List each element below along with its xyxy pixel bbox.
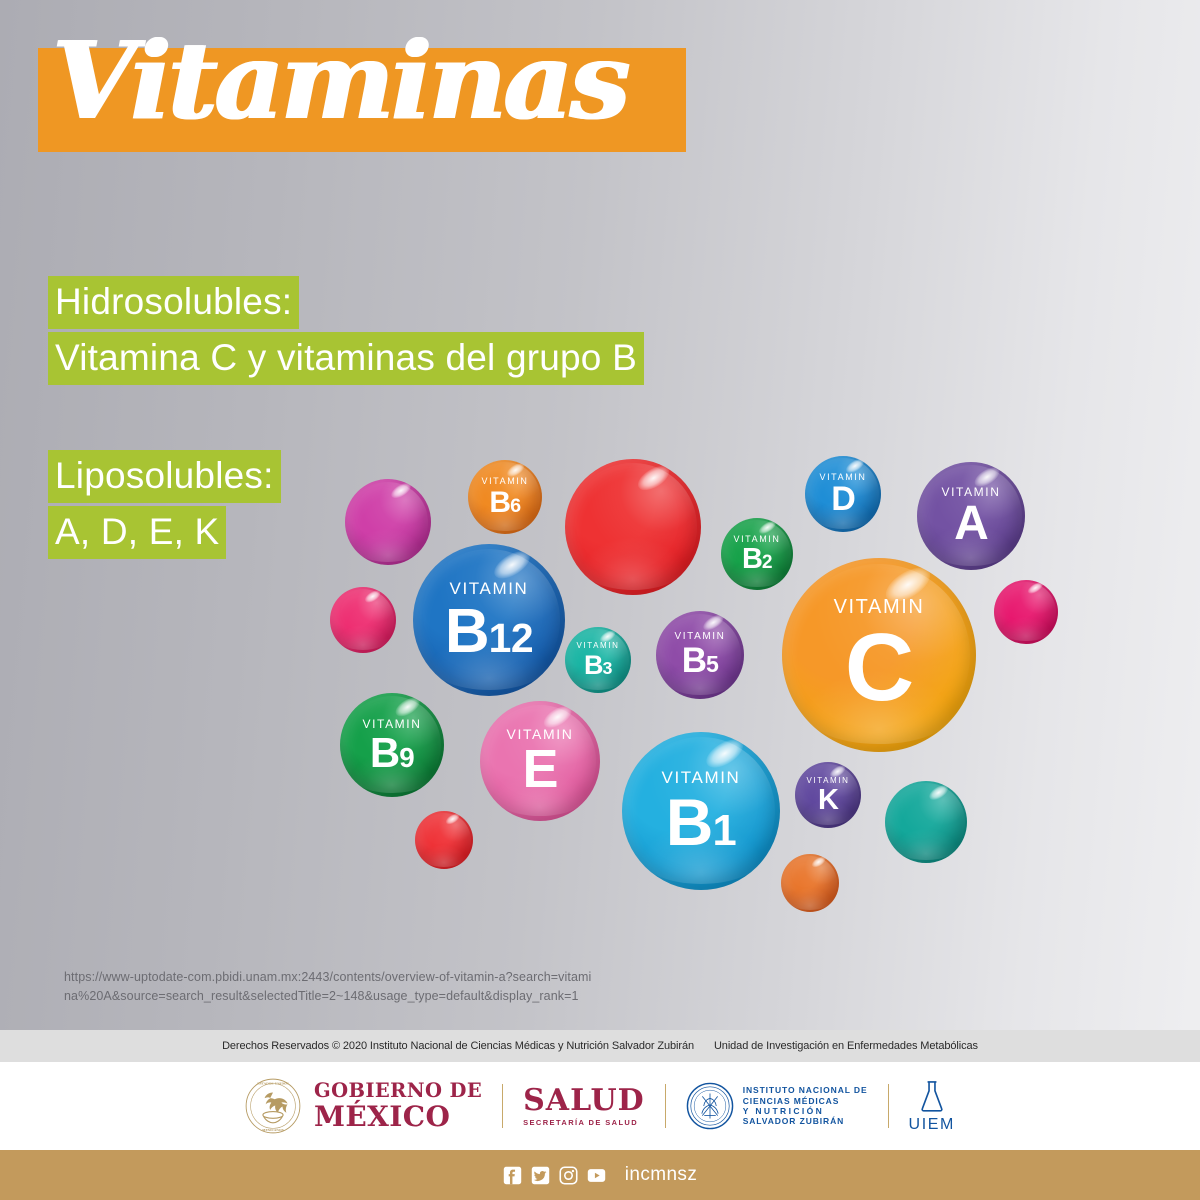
vitamin-sphere-d: VITAMIND bbox=[805, 456, 881, 532]
facebook-icon[interactable] bbox=[503, 1166, 522, 1185]
gloss-top-highlight bbox=[1026, 581, 1045, 597]
uiem-logo: UIEM bbox=[909, 1079, 955, 1134]
social-bar: incmnsz bbox=[0, 1150, 1200, 1200]
vitamin-sphere-b9: VITAMINB9 bbox=[340, 693, 444, 797]
decorative-sphere-4 bbox=[994, 580, 1058, 644]
incmnsz-line2: CIENCIAS MÉDICAS bbox=[743, 1096, 868, 1106]
gloss-top-highlight bbox=[926, 782, 950, 802]
vitamin-name-k: K bbox=[818, 787, 838, 814]
gloss-bottom-highlight bbox=[354, 529, 423, 562]
vitamin-sphere-b5: VITAMINB5 bbox=[656, 611, 744, 699]
vitamin-name-b12: B12 bbox=[445, 603, 533, 660]
vitamin-word-label: VITAMIN bbox=[662, 769, 741, 786]
gloss-rim-highlight bbox=[887, 783, 964, 860]
vitamin-sphere-k: VITAMINK bbox=[795, 762, 861, 828]
mexico-national-seal-icon: ESTADOS UNIDOS MEXICANOS bbox=[245, 1078, 301, 1134]
vitamin-word-label: VITAMIN bbox=[450, 580, 529, 597]
gobierno-de-mexico-logo: ESTADOS UNIDOS MEXICANOS GOBIERNO DE MÉX… bbox=[245, 1078, 482, 1134]
gloss-top-highlight bbox=[388, 480, 413, 501]
logo-divider-1 bbox=[502, 1084, 503, 1128]
vitamin-sphere-cluster: VITAMINB6VITAMINB12VITAMINB2VITAMINB3VIT… bbox=[0, 0, 1200, 1200]
decorative-sphere-7 bbox=[781, 854, 839, 912]
source-url-text: https://www-uptodate-com.pbidi.unam.mx:2… bbox=[64, 968, 594, 1006]
vitamin-sphere-b1: VITAMINB1 bbox=[622, 732, 780, 890]
gloss-bottom-highlight bbox=[893, 829, 959, 860]
twitter-icon[interactable] bbox=[531, 1166, 550, 1185]
gloss-top-highlight bbox=[363, 588, 382, 604]
salud-logo: SALUD SECRETARÍA DE SALUD bbox=[523, 1086, 645, 1127]
gobierno-wordmark: GOBIERNO DE MÉXICO bbox=[314, 1081, 482, 1131]
flask-icon bbox=[917, 1079, 947, 1113]
gloss-top-highlight bbox=[490, 546, 534, 584]
logo-divider-2 bbox=[665, 1084, 666, 1128]
decorative-sphere-3 bbox=[565, 459, 701, 595]
vitamin-sphere-b3: VITAMINB3 bbox=[565, 627, 631, 693]
gloss-bottom-highlight bbox=[337, 625, 390, 650]
vitamin-name-b1: B1 bbox=[666, 792, 736, 853]
copyright-bar: Derechos Reservados © 2020 Instituto Nac… bbox=[0, 1030, 1200, 1062]
vitamin-sphere-e: VITAMINE bbox=[480, 701, 600, 821]
copyright-right: Unidad de Investigación en Enfermedades … bbox=[714, 1040, 978, 1052]
instagram-icon[interactable] bbox=[559, 1166, 578, 1185]
decorative-sphere-5 bbox=[415, 811, 473, 869]
gloss-bottom-highlight bbox=[787, 888, 833, 910]
gloss-rim-highlight bbox=[783, 856, 838, 911]
vitamin-sphere-b12: VITAMINB12 bbox=[413, 544, 565, 696]
gloss-rim-highlight bbox=[332, 589, 394, 651]
salud-wordmark: SALUD bbox=[523, 1086, 645, 1116]
gloss-bottom-highlight bbox=[579, 538, 688, 590]
incmnsz-line3: Y NUTRICIÓN bbox=[743, 1106, 868, 1116]
vitamin-name-b2: B2 bbox=[742, 546, 772, 573]
vitamin-name-e: E bbox=[522, 745, 557, 795]
gloss-rim-highlight bbox=[417, 813, 472, 868]
vitamin-name-b3: B3 bbox=[584, 653, 612, 678]
vitamin-name-b9: B9 bbox=[370, 734, 414, 773]
vitamin-name-c: C bbox=[845, 624, 913, 712]
gloss-rim-highlight bbox=[348, 482, 429, 563]
copyright-left: Derechos Reservados © 2020 Instituto Nac… bbox=[222, 1040, 694, 1052]
gloss-rim-highlight bbox=[996, 582, 1056, 642]
incmnsz-line4: SALVADOR ZUBIRÁN bbox=[743, 1116, 868, 1126]
salud-subtitle: SECRETARÍA DE SALUD bbox=[523, 1119, 645, 1127]
incmnsz-wordmark: INSTITUTO NACIONAL DE CIENCIAS MÉDICAS Y… bbox=[743, 1085, 868, 1126]
incmnsz-seal-icon bbox=[686, 1082, 734, 1130]
svg-text:ESTADOS UNIDOS: ESTADOS UNIDOS bbox=[257, 1082, 289, 1086]
vitamin-sphere-b6: VITAMINB6 bbox=[468, 460, 542, 534]
gloss-bottom-highlight bbox=[421, 845, 467, 867]
vitamin-name-d: D bbox=[831, 484, 855, 515]
incmnsz-logo: INSTITUTO NACIONAL DE CIENCIAS MÉDICAS Y… bbox=[686, 1082, 868, 1130]
uiem-wordmark: UIEM bbox=[909, 1116, 955, 1134]
infographic-page: Vitaminas Hidrosolubles: Vitamina C y vi… bbox=[0, 0, 1200, 1200]
gobierno-line2: MÉXICO bbox=[314, 1103, 482, 1131]
youtube-icon[interactable] bbox=[587, 1166, 606, 1185]
vitamin-name-a: A bbox=[954, 502, 988, 546]
vitamin-name-b5: B5 bbox=[682, 645, 719, 677]
vitamin-sphere-b2: VITAMINB2 bbox=[721, 518, 793, 590]
vitamin-sphere-a: VITAMINA bbox=[917, 462, 1025, 570]
gloss-rim-highlight bbox=[569, 463, 697, 591]
gloss-top-highlight bbox=[810, 855, 827, 869]
vitamin-name-b6: B6 bbox=[489, 489, 520, 517]
decorative-sphere-2 bbox=[330, 587, 396, 653]
gloss-top-highlight bbox=[702, 734, 748, 773]
copyright-text: Derechos Reservados © 2020 Instituto Nac… bbox=[222, 1040, 978, 1052]
gloss-top-highlight bbox=[634, 460, 673, 494]
social-links-group: incmnsz bbox=[503, 1164, 697, 1186]
social-handle[interactable]: incmnsz bbox=[625, 1164, 697, 1186]
gloss-bottom-highlight bbox=[1000, 617, 1051, 641]
gloss-top-highlight bbox=[444, 812, 461, 826]
logo-bar: ESTADOS UNIDOS MEXICANOS GOBIERNO DE MÉX… bbox=[0, 1062, 1200, 1150]
incmnsz-line1: INSTITUTO NACIONAL DE bbox=[743, 1085, 868, 1095]
gobierno-line1: GOBIERNO DE bbox=[314, 1081, 482, 1101]
svg-text:MEXICANOS: MEXICANOS bbox=[262, 1128, 284, 1132]
decorative-sphere-6 bbox=[885, 781, 967, 863]
vitamin-sphere-c: VITAMINC bbox=[782, 558, 976, 752]
logo-divider-3 bbox=[888, 1084, 889, 1128]
decorative-sphere-1 bbox=[345, 479, 431, 565]
